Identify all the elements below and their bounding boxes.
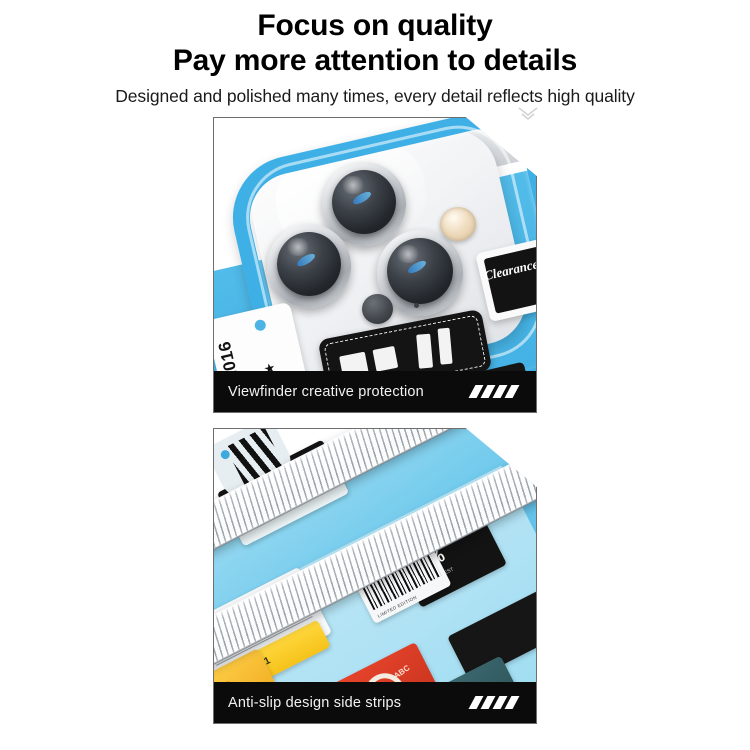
red-card-text: ABC <box>392 663 411 680</box>
panel-2-caption-text: Anti-slip design side strips <box>228 695 401 711</box>
slash-marks-icon <box>472 696 522 709</box>
label-chip <box>416 334 433 369</box>
headline-line-1: Focus on quality <box>0 8 750 43</box>
panel-1-artwork: 2016 ★ ★ ★ ★ Clearance <box>214 118 536 412</box>
label-chip <box>372 346 398 372</box>
feature-panel-antislip: 50% OFF LIMITED EDITION TRADEMARK 50% TH… <box>213 428 537 724</box>
panel-1-caption-bar: Viewfinder creative protection <box>214 371 536 412</box>
subheadline: Designed and polished many times, every … <box>0 85 750 107</box>
feature-panel-viewfinder: 2016 ★ ★ ★ ★ Clearance Viewfinder creati… <box>213 117 537 413</box>
panel-2-artwork: 50% OFF LIMITED EDITION TRADEMARK 50% TH… <box>214 429 536 723</box>
headline-line-2: Pay more attention to details <box>0 43 750 78</box>
product-detail-page: Focus on quality Pay more attention to d… <box>0 0 750 750</box>
tag-hole <box>254 319 267 332</box>
panel-2-caption-bar: Anti-slip design side strips <box>214 682 536 723</box>
header: Focus on quality Pay more attention to d… <box>0 0 750 107</box>
panel-1-caption-text: Viewfinder creative protection <box>228 384 424 400</box>
slash-marks-icon <box>472 385 522 398</box>
chevron-double-down-icon <box>516 106 540 124</box>
